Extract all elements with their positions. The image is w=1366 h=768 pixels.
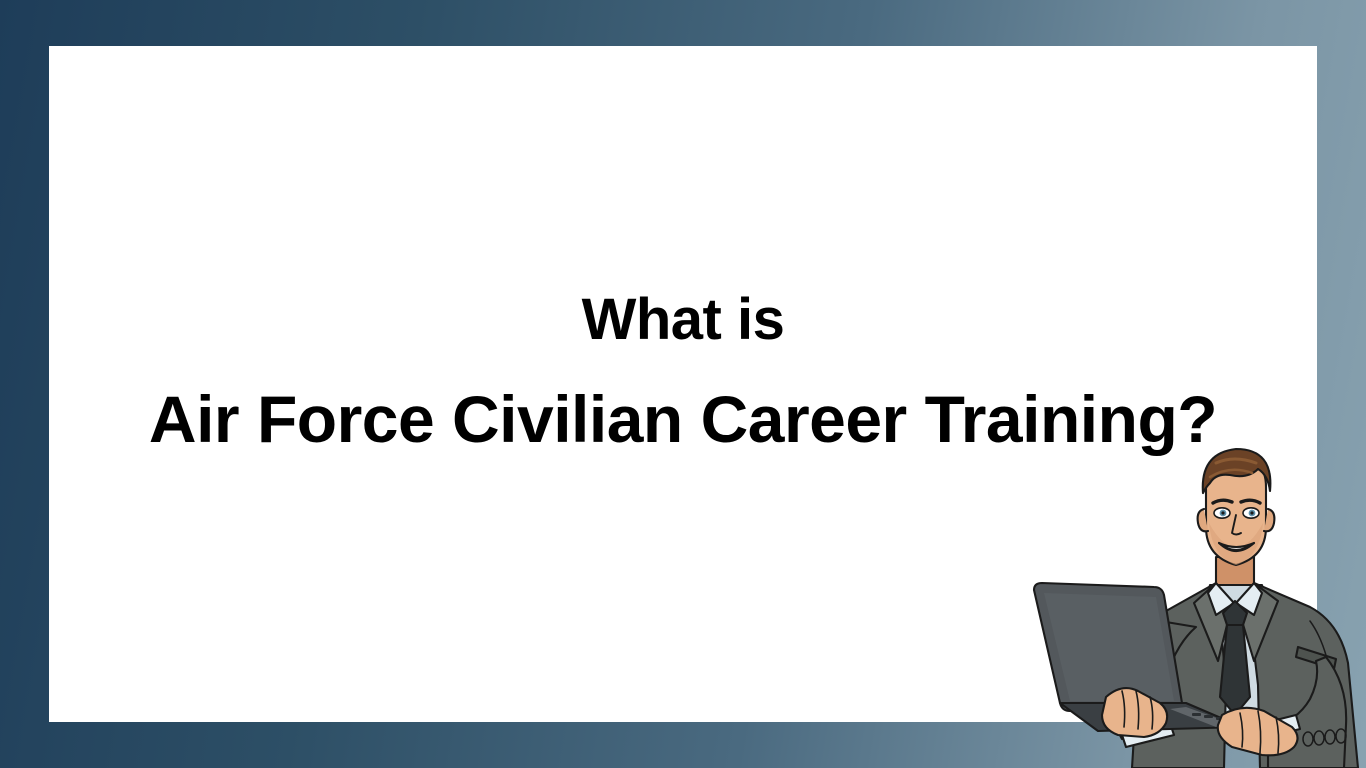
cuff-left-shape bbox=[1122, 723, 1174, 747]
title-line-1: What is bbox=[49, 291, 1317, 349]
title-line-2: Air Force Civilian Career Training? bbox=[49, 386, 1317, 452]
slide-canvas: What is Air Force Civilian Career Traini… bbox=[0, 0, 1366, 768]
cuff-buttons-icon bbox=[1303, 729, 1346, 746]
content-card: What is Air Force Civilian Career Traini… bbox=[49, 46, 1317, 722]
